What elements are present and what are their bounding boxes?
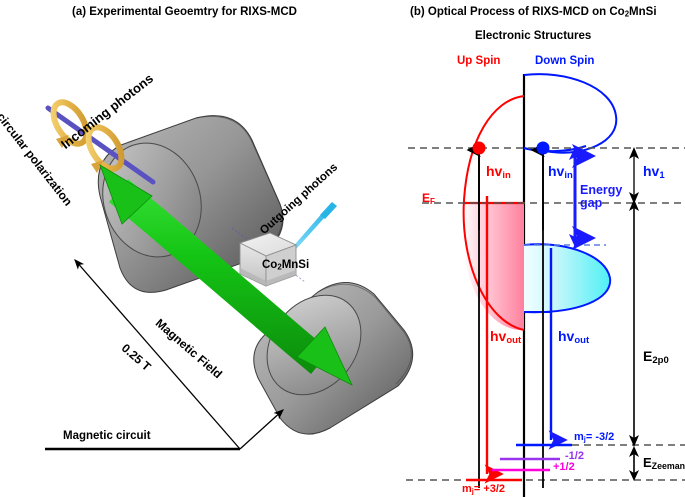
mj-plus32-post: = +3/2: [474, 483, 505, 495]
level-label-mj-minus-3-2: mj= -3/2: [574, 431, 614, 444]
fermi-label-text: E: [422, 191, 430, 205]
hv-in-down-sub: in: [564, 170, 572, 181]
hv-out-down-text: hv: [558, 328, 574, 344]
ezeeman-sub: Zeeman: [652, 461, 685, 471]
hv-in-up-label: hvin: [486, 163, 511, 181]
hv-out-up-text: hv: [490, 328, 506, 344]
magnetic-circuit-label: Magnetic circuit: [63, 430, 151, 442]
down-spin-lower-lobe-fill: [524, 244, 610, 312]
down-spin-electron-dot: [537, 142, 550, 155]
down-spin-upper-lobe: [524, 74, 616, 153]
sample-label-tail: MnSi: [282, 259, 309, 271]
hv-out-down-label: hvout: [558, 328, 589, 346]
e2p0-label: E2p0: [643, 348, 669, 366]
panel-a-experimental-geometry: (a) Experimental Geoemtry for RIXS-MCD: [0, 0, 400, 497]
hv-out-up-label: hvout: [490, 328, 521, 346]
energy-gap-label: Energy gap: [580, 184, 622, 210]
hv-in-down-label: hvin: [548, 163, 573, 181]
hv1-label: hv1: [643, 163, 665, 181]
panel-b-graphics: [400, 0, 685, 497]
figure-root: (a) Experimental Geoemtry for RIXS-MCD: [0, 0, 685, 497]
hv-in-up-text: hv: [486, 163, 502, 179]
hv1-sub: 1: [659, 170, 664, 181]
sample-label-text: Co: [262, 259, 277, 271]
fermi-label-sub: F: [430, 197, 435, 206]
hv-in-up-sub: in: [502, 170, 510, 181]
e2p0-sub: 2p0: [652, 355, 668, 366]
hv1-text: hv: [643, 163, 659, 179]
mj-minus32-post: = -3/2: [586, 431, 614, 443]
fermi-level-label: EF: [422, 191, 435, 206]
energy-gap-line2: gap: [580, 197, 622, 210]
outgoing-photon-beam-wide: [320, 202, 337, 219]
level-label-mj-plus-3-2: mj= +3/2: [462, 483, 505, 496]
ezeeman-text: E: [643, 455, 652, 470]
sample-label: Co2MnSi: [262, 259, 309, 272]
hv-in-down-text: hv: [548, 163, 564, 179]
mj-plus32-pre: m: [462, 483, 472, 495]
e2p0-text: E: [643, 348, 652, 364]
hv-out-down-sub: out: [574, 335, 589, 346]
ezeeman-label: EZeeman: [643, 455, 685, 471]
mj-plus12-post: +1/2: [553, 461, 575, 473]
up-spin-electron-dot: [473, 142, 486, 155]
mj-minus32-pre: m: [574, 431, 584, 443]
level-label-mj-plus-1-2: +1/2: [553, 461, 575, 473]
panel-b-optical-process: (b) Optical Process of RIXS-MCD on Co2Mn…: [400, 0, 685, 497]
panel-a-graphics: [0, 0, 400, 497]
hv-out-up-sub: out: [506, 335, 521, 346]
